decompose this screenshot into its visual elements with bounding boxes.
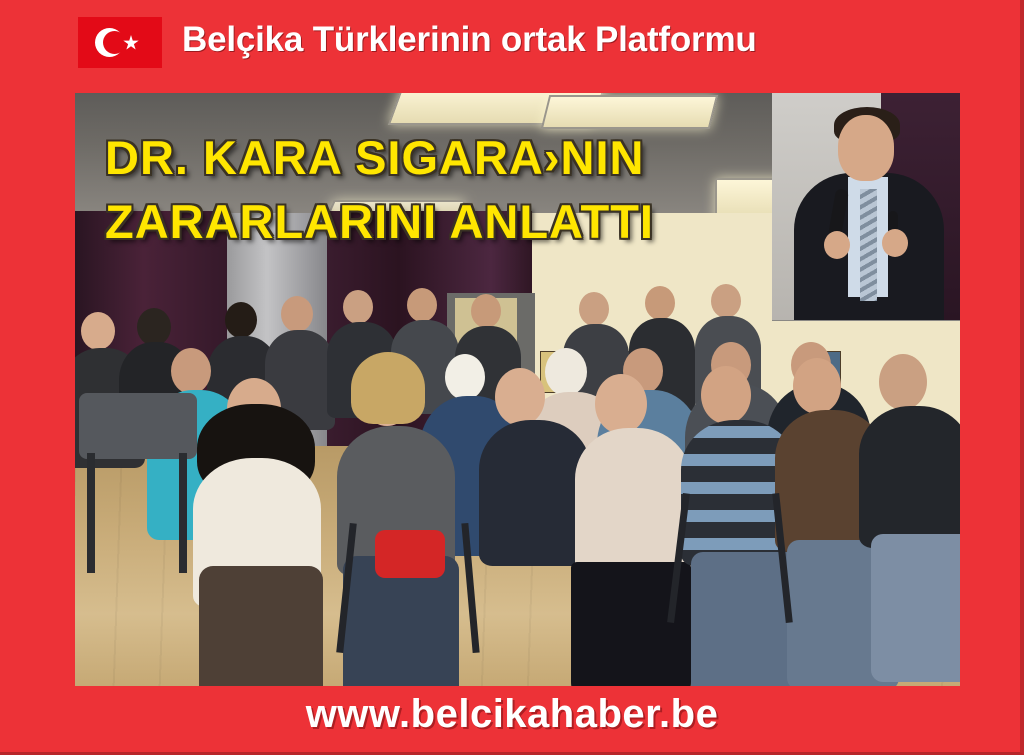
- audience-head: [471, 294, 501, 328]
- audience-hair: [351, 352, 425, 424]
- turkish-flag-icon: [78, 17, 162, 68]
- audience-legs: [199, 566, 323, 686]
- folding-chair: [79, 393, 197, 459]
- audience-head: [495, 368, 545, 426]
- audience-legs: [871, 534, 960, 682]
- audience-head: [595, 374, 647, 434]
- audience-headscarf: [545, 348, 587, 396]
- audience-headscarf: [445, 354, 485, 400]
- website-url[interactable]: www.belcikahaber.be: [0, 692, 1024, 737]
- audience-person: [859, 406, 960, 548]
- ceiling-light-icon: [541, 95, 718, 129]
- flag-crescent-inner: [103, 31, 126, 54]
- audience-head: [81, 312, 115, 350]
- audience-head: [879, 354, 927, 410]
- main-photo: [75, 93, 960, 686]
- audience-head: [407, 288, 437, 322]
- audience-head: [645, 286, 675, 320]
- audience-head: [711, 284, 741, 318]
- audience-head: [579, 292, 609, 326]
- photo-scene: [75, 93, 960, 686]
- chair-leg: [179, 453, 187, 573]
- audience-head: [701, 366, 751, 424]
- inset-speaker-photo: [772, 93, 960, 321]
- red-handbag: [375, 530, 445, 578]
- speaker-hand: [882, 229, 908, 257]
- poster: Belçika Türklerinin ortak Platformu: [0, 0, 1024, 755]
- audience-head: [225, 302, 257, 338]
- audience-head: [793, 358, 841, 414]
- speaker-tie: [860, 189, 877, 301]
- speaker-head: [838, 115, 894, 181]
- audience-head: [171, 348, 211, 394]
- speaker-hand: [824, 231, 850, 259]
- audience-head: [343, 290, 373, 324]
- audience-head: [137, 308, 171, 346]
- audience-person: [575, 428, 691, 578]
- page-title: Belçika Türklerinin ortak Platformu: [182, 18, 757, 62]
- chair-leg: [87, 453, 95, 573]
- header-bar: Belçika Türklerinin ortak Platformu: [0, 0, 1024, 93]
- audience-crowd: [75, 308, 960, 646]
- audience-head: [281, 296, 313, 332]
